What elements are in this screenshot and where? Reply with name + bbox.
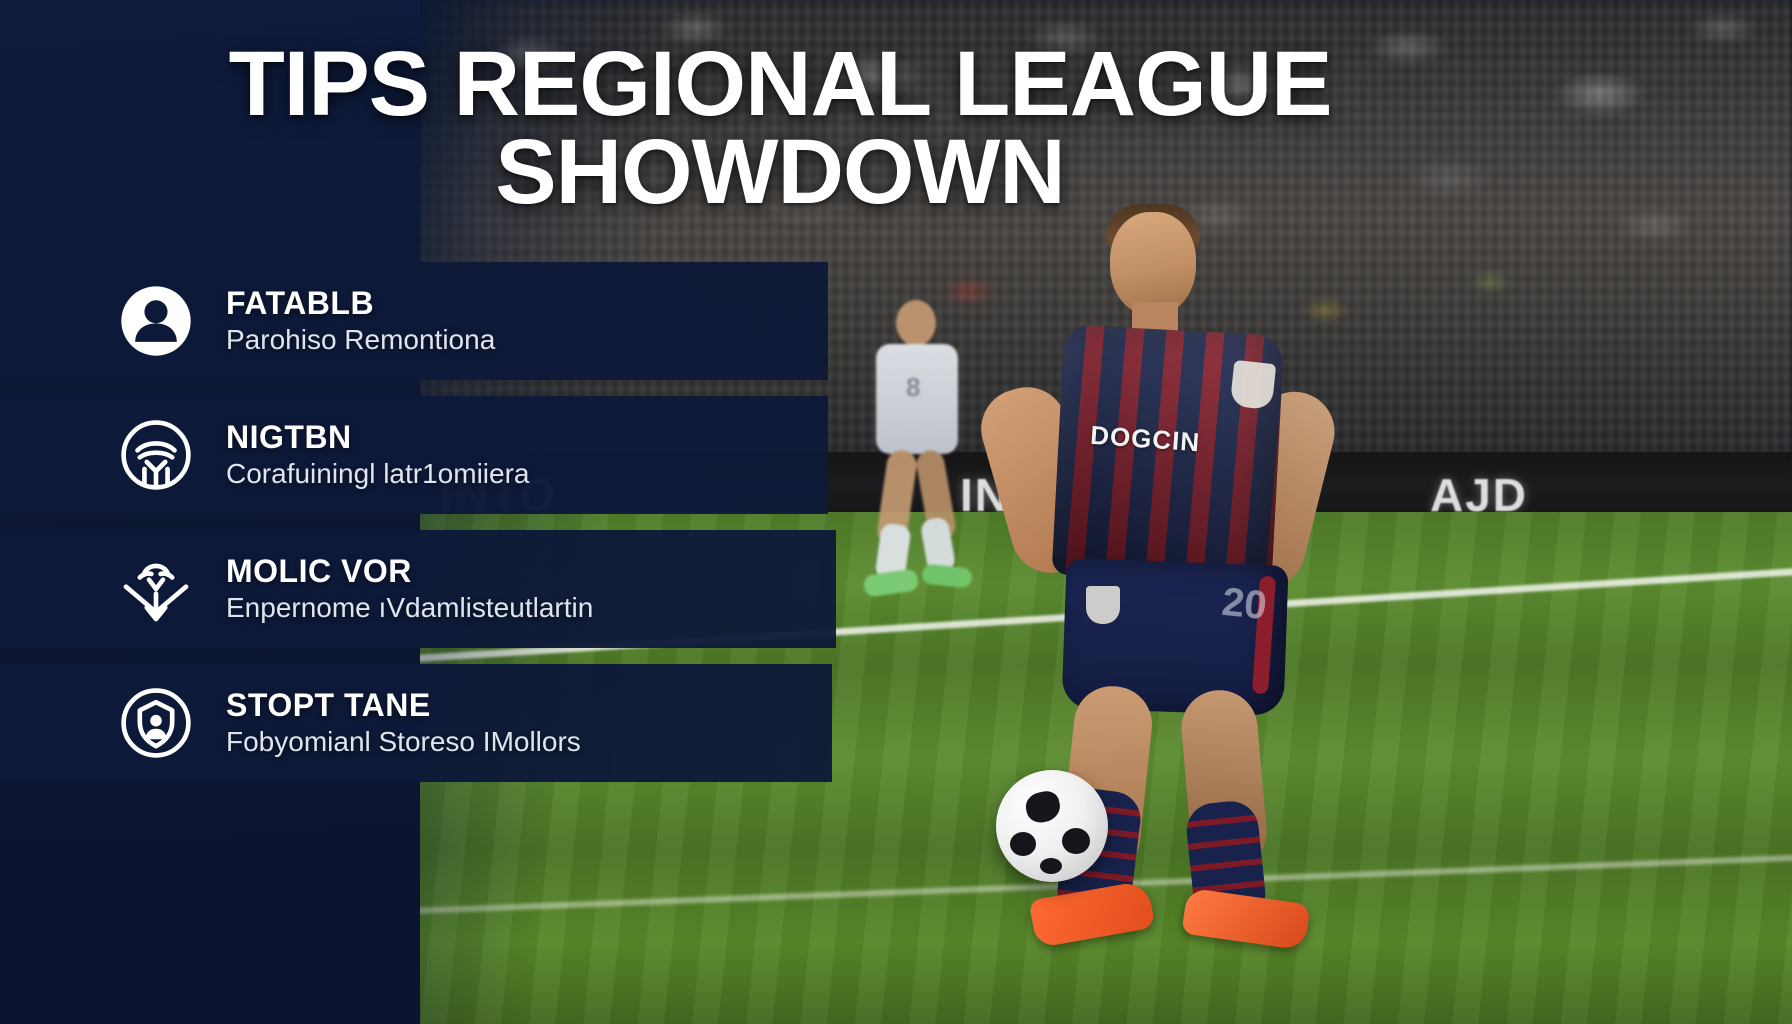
list-item-title: MOLIC VOR (226, 554, 836, 589)
feature-list: FATABLB Parohiso Remontiona NIGTBN Coraf… (0, 262, 860, 798)
list-item-text: MOLIC VOR Enpernome ıVdamlisteutlartin (204, 554, 836, 625)
list-item[interactable]: NIGTBN Corafuiningl latr1omiiera (0, 396, 828, 514)
list-item-title: STOPT TANE (226, 688, 832, 723)
helmet-crest-icon (108, 418, 204, 492)
list-item-title: NIGTBN (226, 420, 828, 455)
list-item[interactable]: MOLIC VOR Enpernome ıVdamlisteutlartin (0, 530, 836, 648)
list-item-subtitle: Fobyomianl Storeso IMollors (226, 725, 832, 759)
list-item-text: NIGTBN Corafuiningl latr1omiiera (204, 420, 828, 491)
list-item-subtitle: Parohiso Remontiona (226, 323, 828, 357)
list-item-title: FATABLB (226, 286, 828, 321)
user-avatar-icon (108, 284, 204, 358)
left-column-footer-block (0, 844, 420, 1024)
list-item-text: FATABLB Parohiso Remontiona (204, 286, 828, 357)
list-item-subtitle: Corafuiningl latr1omiiera (226, 457, 828, 491)
list-item-subtitle: Enpernome ıVdamlisteutlartin (226, 591, 836, 625)
laurel-arrow-icon (108, 552, 204, 626)
list-item[interactable]: FATABLB Parohiso Remontiona (0, 262, 828, 380)
list-item[interactable]: STOPT TANE Fobyomianl Storeso IMollors (0, 664, 832, 782)
list-item-text: STOPT TANE Fobyomianl Storeso IMollors (204, 688, 832, 759)
title-line-1: TIPS REGIONAL LEAGUE (0, 40, 1560, 128)
shield-person-icon (108, 686, 204, 760)
poster-canvas: INTO INTO AJD 8 DOGCIN (0, 0, 1792, 1024)
title-line-2: SHOWDOWN (0, 128, 1560, 216)
page-title: TIPS REGIONAL LEAGUE SHOWDOWN (0, 40, 1560, 217)
